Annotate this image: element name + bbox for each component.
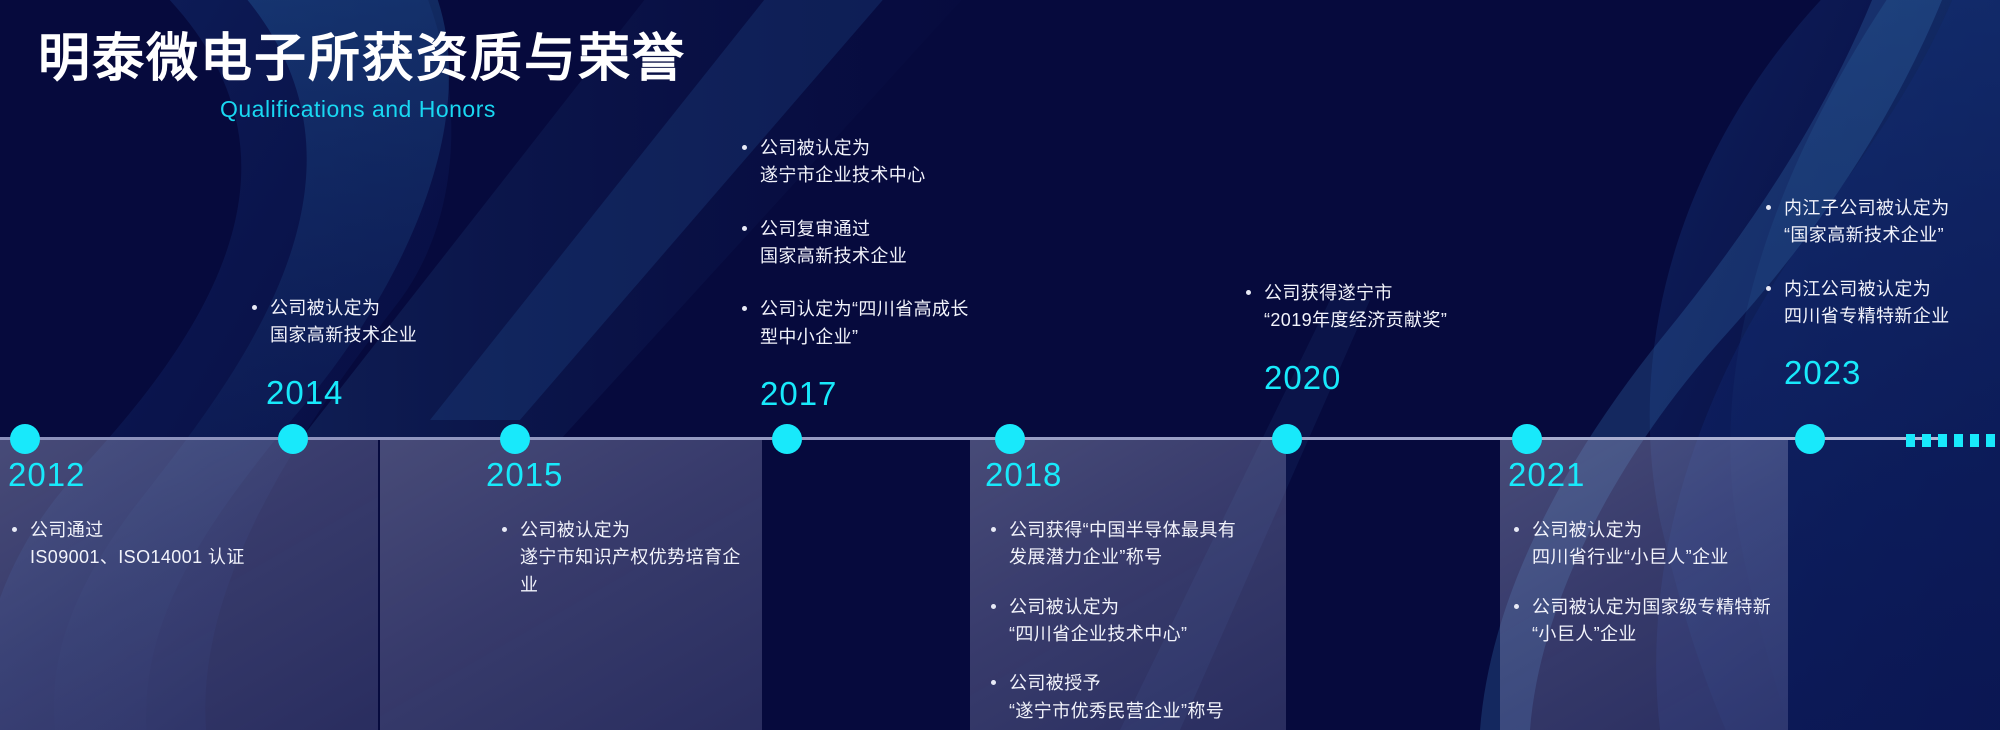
year-label-2017: 2017 — [760, 377, 1058, 410]
list-item: 内江公司被认定为 四川省专精特新企业 — [1762, 276, 2000, 331]
year-label-2021: 2021 — [1508, 458, 1838, 491]
bullet-list-2020: 公司获得遂宁市 “2019年度经济贡献奖” — [1242, 280, 1562, 335]
timeline-node-2018[interactable] — [995, 424, 1025, 454]
bullet-list-2018: 公司获得“中国半导体最具有 发展潜力企业”称号 公司被认定为 “四川省企业技术中… — [985, 517, 1295, 725]
entry-2014: 公司被认定为 国家高新技术企业 2014 — [248, 295, 568, 409]
year-label-2015: 2015 — [486, 458, 786, 491]
header: 明泰微电子所获资质与荣誉 Qualifications and Honors — [38, 30, 686, 123]
year-label-2020: 2020 — [1264, 361, 1562, 394]
axis-end-dashes-icon — [1906, 434, 1995, 447]
list-item: 内江子公司被认定为 “国家高新技术企业” — [1762, 195, 2000, 250]
entry-2023: 内江子公司被认定为 “国家高新技术企业” 内江公司被认定为 四川省专精特新企业 … — [1762, 195, 2000, 389]
page-title: 明泰微电子所获资质与荣誉 — [38, 30, 686, 90]
list-item: 公司被认定为 国家高新技术企业 — [248, 295, 568, 350]
page-subtitle: Qualifications and Honors — [220, 96, 686, 123]
bullet-list-2017: 公司被认定为 遂宁市企业技术中心 公司复审通过 国家高新技术企业 公司认定为“四… — [738, 135, 1058, 351]
bullet-list-2023: 内江子公司被认定为 “国家高新技术企业” 内江公司被认定为 四川省专精特新企业 — [1762, 195, 2000, 330]
bullet-list-2015: 公司被认定为 遂宁市知识产权优势培育企 业 — [486, 517, 786, 599]
entry-2020: 公司获得遂宁市 “2019年度经济贡献奖” 2020 — [1242, 280, 1562, 394]
timeline-node-2020[interactable] — [1272, 424, 1302, 454]
year-label-2012: 2012 — [8, 458, 368, 491]
entry-2021: 2021 公司被认定为 四川省行业“小巨人”企业 公司被认定为国家级专精特新 “… — [1508, 458, 1838, 648]
timeline-node-2012[interactable] — [10, 424, 40, 454]
timeline-node-2015[interactable] — [500, 424, 530, 454]
bullet-list-2021: 公司被认定为 四川省行业“小巨人”企业 公司被认定为国家级专精特新 “小巨人”企… — [1508, 517, 1838, 648]
timeline-node-2023[interactable] — [1795, 424, 1825, 454]
bullet-list-2012: 公司通过 IS09001、ISO14001 认证 — [8, 517, 368, 572]
list-item: 公司被认定为 “四川省企业技术中心” — [987, 594, 1295, 649]
list-item: 公司认定为“四川省高成长 型中小企业” — [738, 296, 1058, 351]
year-label-2014: 2014 — [266, 376, 568, 409]
list-item: 公司被授予 “遂宁市优秀民营企业”称号 — [987, 670, 1295, 725]
list-item: 公司获得“中国半导体最具有 发展潜力企业”称号 — [987, 517, 1295, 572]
timeline-node-2014[interactable] — [278, 424, 308, 454]
entry-2015: 2015 公司被认定为 遂宁市知识产权优势培育企 业 — [486, 458, 786, 599]
list-item: 公司复审通过 国家高新技术企业 — [738, 216, 1058, 271]
list-item: 公司通过 IS09001、ISO14001 认证 — [8, 517, 368, 572]
list-item: 公司被认定为 遂宁市知识产权优势培育企 业 — [498, 517, 786, 599]
slide-canvas: 明泰微电子所获资质与荣誉 Qualifications and Honors 2… — [0, 0, 2000, 730]
timeline-node-2017[interactable] — [772, 424, 802, 454]
list-item: 公司被认定为 遂宁市企业技术中心 — [738, 135, 1058, 190]
bullet-list-2014: 公司被认定为 国家高新技术企业 — [248, 295, 568, 350]
year-label-2023: 2023 — [1784, 356, 2000, 389]
year-label-2018: 2018 — [985, 458, 1295, 491]
list-item: 公司被认定为国家级专精特新 “小巨人”企业 — [1510, 594, 1838, 649]
entry-2012: 2012 公司通过 IS09001、ISO14001 认证 — [8, 458, 368, 572]
entry-2017: 公司被认定为 遂宁市企业技术中心 公司复审通过 国家高新技术企业 公司认定为“四… — [738, 135, 1058, 410]
entry-2018: 2018 公司获得“中国半导体最具有 发展潜力企业”称号 公司被认定为 “四川省… — [985, 458, 1295, 725]
timeline-node-2021[interactable] — [1512, 424, 1542, 454]
list-item: 公司被认定为 四川省行业“小巨人”企业 — [1510, 517, 1838, 572]
list-item: 公司获得遂宁市 “2019年度经济贡献奖” — [1242, 280, 1562, 335]
